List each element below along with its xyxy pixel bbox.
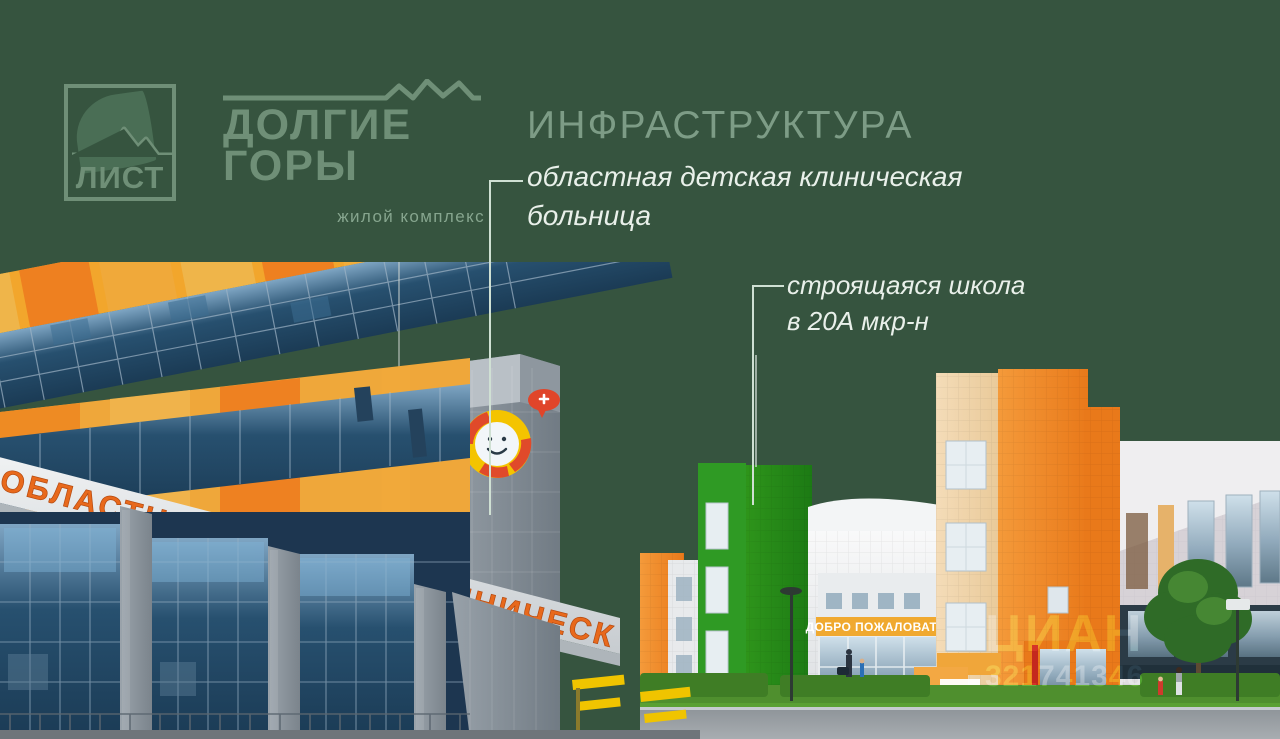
- brand-block: ЛИСТ ДОЛГИЕ ГОРЫ жилой комплекс: [64, 84, 484, 254]
- callout-school: строящаяся школа в 20А мкр-н: [787, 267, 1025, 340]
- school-welcome-sign: ДОБРО ПОЖАЛОВАТЬ !: [806, 620, 955, 634]
- school-render-svg: ДОБРО ПОЖАЛОВАТЬ !: [640, 355, 1280, 739]
- wordmark-line-1: ДОЛГИЕ: [223, 105, 485, 146]
- infrastructure-promo-slide: ДОБРО ПОЖАЛОВАТЬ !: [0, 0, 1280, 739]
- watermark-brand: ЦИАН: [985, 608, 1144, 660]
- watermark-id: 321741346: [985, 662, 1144, 692]
- wordmark-rule-icon: [223, 79, 485, 105]
- brand-subtitle: жилой комплекс: [223, 207, 485, 227]
- callout-hospital-line-1: областная детская клиническая: [527, 158, 962, 197]
- list-logo-text: ЛИСТ: [68, 162, 172, 193]
- cian-watermark: ЦИАН 321741346: [985, 608, 1144, 692]
- callout-school-line-2: в 20А мкр-н: [787, 303, 1025, 339]
- wordmark-line-2: ГОРЫ: [223, 146, 485, 187]
- hospital-photo: ОБЛАСТНАЯ ДЕТСКАЯ КЛИНИЧЕСКАЯ БОЛЬНИЦА: [0, 262, 700, 739]
- callout-hospital: областная детская клиническая больница: [527, 158, 962, 235]
- callout-school-line-1: строящаяся школа: [787, 267, 1025, 303]
- dolgie-gory-wordmark: ДОЛГИЕ ГОРЫ жилой комплекс: [223, 79, 485, 227]
- list-logo-mark: ЛИСТ: [64, 84, 176, 201]
- hospital-photo-svg: ОБЛАСТНАЯ ДЕТСКАЯ КЛИНИЧЕСКАЯ БОЛЬНИЦА: [0, 262, 700, 739]
- yellow-bench: [572, 675, 691, 730]
- page-title: ИНФРАСТРУКТУРА: [527, 104, 914, 148]
- school-render-photo: ДОБРО ПОЖАЛОВАТЬ !: [640, 355, 1280, 739]
- mountain-ridge-icon: [72, 121, 172, 157]
- hospital-sun-logo: [463, 410, 531, 478]
- callout-hospital-line-2: больница: [527, 197, 962, 236]
